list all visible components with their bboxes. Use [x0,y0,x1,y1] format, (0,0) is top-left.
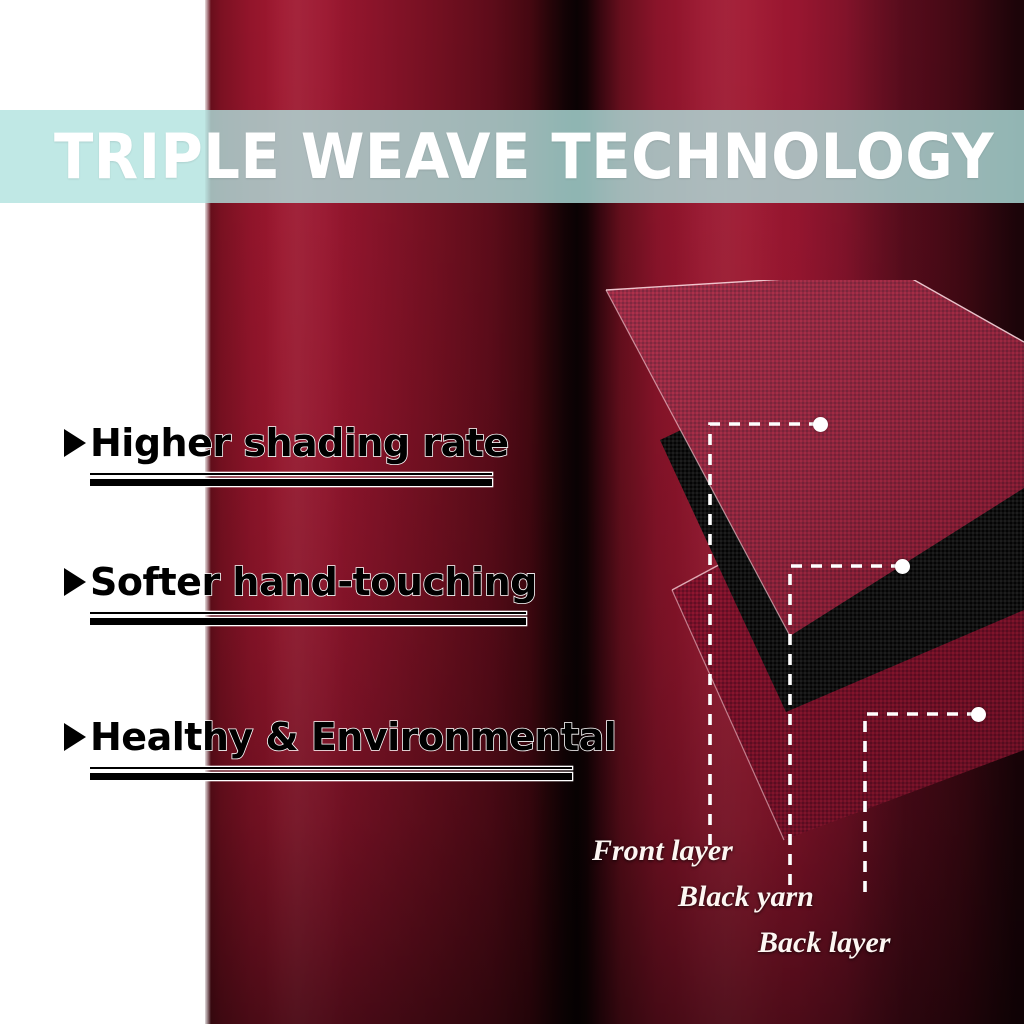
feature-label-2: Softer hand-touching [90,563,537,601]
underline-thick-rule [90,618,526,625]
feature-underline-2 [90,612,526,625]
underline-thin-rule [90,473,492,475]
underline-thick-rule [90,479,492,486]
triangle-right-icon [64,568,86,596]
feature-underline-3 [90,767,572,780]
feature-underline-1 [90,473,492,486]
title-banner: TRIPLE WEAVE TECHNOLOGY [0,110,1024,203]
triangle-right-icon [64,429,86,457]
triangle-right-icon [64,723,86,751]
layer-label-front-layer: Front layer [592,836,733,866]
feature-item-3: Healthy & Environmental [64,718,616,780]
layer-label-black-yarn: Black yarn [678,882,814,912]
feature-label-3: Healthy & Environmental [90,718,616,756]
underline-thick-rule [90,773,572,780]
feature-item-1: Higher shading rate [64,424,509,486]
underline-thin-rule [90,612,526,614]
underline-thin-rule [90,767,572,769]
page-title: TRIPLE WEAVE TECHNOLOGY [0,126,994,188]
feature-label-1: Higher shading rate [90,424,509,462]
layer-label-back-layer: Back layer [758,928,890,958]
product-feature-image: TRIPLE WEAVE TECHNOLOGY Higher shading r… [0,0,1024,1024]
feature-item-2: Softer hand-touching [64,563,537,625]
